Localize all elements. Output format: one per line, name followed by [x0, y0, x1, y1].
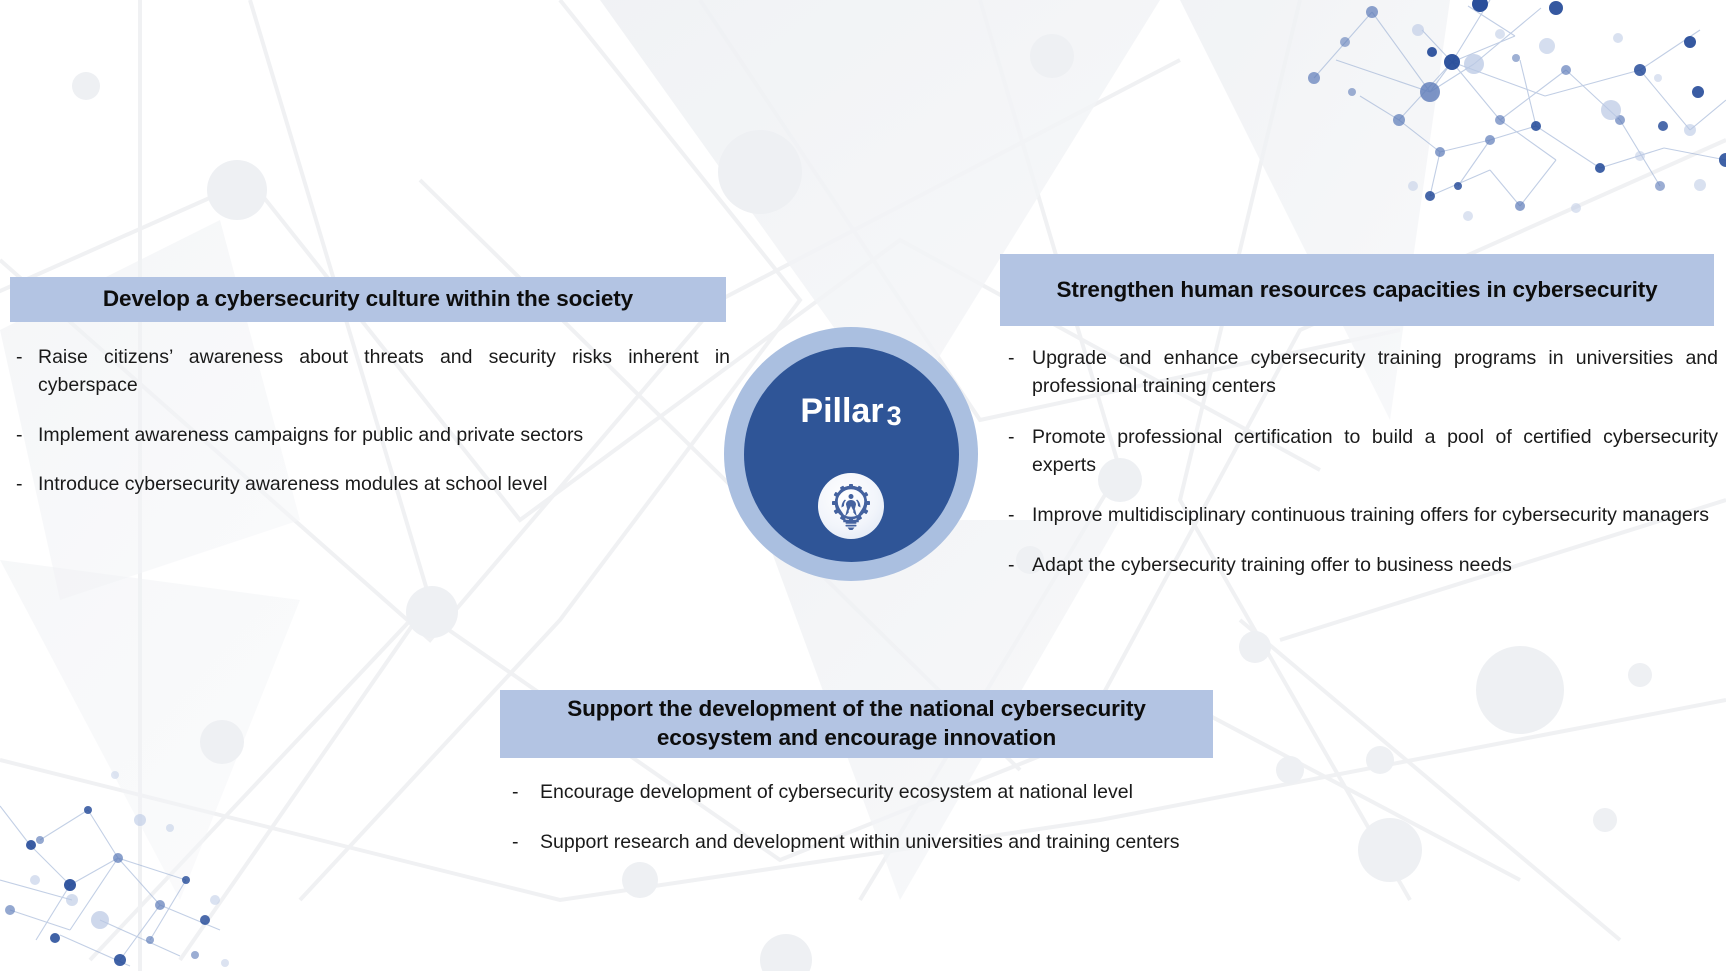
list-item: - Encourage development of cybersecurity…	[512, 778, 1202, 806]
bottom-panel-title: Support the development of the national …	[516, 695, 1197, 752]
list-item: - Upgrade and enhance cybersecurity trai…	[1008, 344, 1718, 401]
right-panel-bullet-list: - Upgrade and enhance cybersecurity trai…	[1008, 344, 1718, 580]
bullet-marker: -	[16, 470, 38, 498]
list-item: - Introduce cybersecurity awareness modu…	[16, 470, 730, 498]
left-panel-bullet-list: - Raise citizens’ awareness about threat…	[16, 343, 730, 498]
bullet-marker: -	[1008, 423, 1032, 451]
list-item-text: Promote professional certification to bu…	[1032, 423, 1718, 480]
pillar-circle: Pillar3	[724, 327, 978, 581]
right-panel-title-bar: Strengthen human resources capacities in…	[1000, 254, 1714, 326]
list-item: - Adapt the cybersecurity training offer…	[1008, 551, 1718, 579]
bottom-panel-title-bar: Support the development of the national …	[500, 690, 1213, 758]
bullet-marker: -	[512, 828, 540, 856]
right-panel-title: Strengthen human resources capacities in…	[1056, 276, 1657, 305]
pillar-label-text: Pillar	[800, 392, 883, 430]
list-item: - Implement awareness campaigns for publ…	[16, 421, 730, 449]
list-item-text: Upgrade and enhance cybersecurity traini…	[1032, 344, 1718, 401]
list-item-text: Improve multidisciplinary continuous tra…	[1032, 501, 1718, 529]
pillar-circle-inner: Pillar3	[744, 347, 959, 562]
list-item: - Support research and development withi…	[512, 828, 1202, 856]
bullet-marker: -	[1008, 551, 1032, 579]
list-item-text: Support research and development within …	[540, 828, 1202, 856]
bottom-panel-bullet-list: - Encourage development of cybersecurity…	[512, 778, 1202, 857]
bullet-marker: -	[16, 343, 38, 371]
list-item: - Promote professional certification to …	[1008, 423, 1718, 480]
list-item-text: Raise citizens’ awareness about threats …	[38, 343, 730, 400]
pillar-number: 3	[887, 401, 902, 431]
slide-canvas: Develop a cybersecurity culture within t…	[0, 0, 1726, 971]
list-item: - Raise citizens’ awareness about threat…	[16, 343, 730, 400]
bullet-marker: -	[1008, 501, 1032, 529]
pillar-label: Pillar3	[744, 394, 959, 428]
list-item-text: Adapt the cybersecurity training offer t…	[1032, 551, 1718, 579]
list-item-text: Encourage development of cybersecurity e…	[540, 778, 1202, 806]
pillar-icon-badge	[818, 473, 884, 539]
bullet-marker: -	[512, 778, 540, 806]
list-item: - Improve multidisciplinary continuous t…	[1008, 501, 1718, 529]
lightbulb-gear-people-icon	[826, 481, 876, 531]
list-item-text: Introduce cybersecurity awareness module…	[38, 470, 730, 498]
bullet-marker: -	[1008, 344, 1032, 372]
bullet-marker: -	[16, 421, 38, 449]
list-item-text: Implement awareness campaigns for public…	[38, 421, 730, 449]
left-panel-title-bar: Develop a cybersecurity culture within t…	[10, 277, 726, 322]
left-panel-title: Develop a cybersecurity culture within t…	[103, 285, 633, 314]
